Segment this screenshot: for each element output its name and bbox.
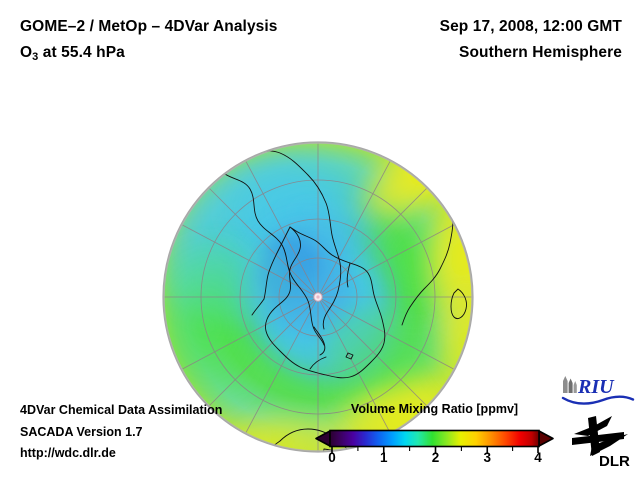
colorbar-graphic: 0 1 2 3 4 [312,420,557,466]
colorbar: Volume Mixing Ratio [ppmv] [312,402,557,466]
riu-wordmark: RIU [577,376,615,398]
species-pressure: at 55.4 hPa [38,44,125,61]
colorbar-tick-0: 0 [328,450,336,465]
dlr-wordmark: DLR [599,453,630,470]
region-label: Southern Hemisphere [342,40,622,66]
colorbar-tick-labels: 0 1 2 3 4 [312,450,557,468]
dlr-logo: DLR [566,412,634,470]
riu-logo-svg: RIU [559,374,635,406]
colorbar-tick-3: 3 [483,450,491,465]
riu-logo: RIU [559,374,635,406]
header-left: GOME–2 / MetOp – 4DVar Analysis O3 at 55… [20,14,390,70]
dlr-logo-svg: DLR [566,412,634,470]
colorbar-tick-1: 1 [380,450,388,465]
colorbar-cap-low [316,431,330,446]
credit-line-2: SACADA Version 1.7 [20,422,320,444]
species-symbol: O [20,44,32,61]
species-label: O3 at 55.4 hPa [20,40,390,70]
south-pole-marker [314,293,322,301]
colorbar-ramp [330,431,539,447]
colorbar-tick-2: 2 [432,450,440,465]
timestamp: Sep 17, 2008, 12:00 GMT [342,14,622,40]
credit-line-1: 4DVar Chemical Data Assimilation [20,400,320,422]
riu-tower-icon [563,376,577,393]
colorbar-title: Volume Mixing Ratio [ppmv] [312,402,557,416]
page-title: GOME–2 / MetOp – 4DVar Analysis [20,14,390,40]
footer-credits: 4DVar Chemical Data Assimilation SACADA … [20,400,320,465]
colorbar-tick-4: 4 [534,450,542,465]
header-right: Sep 17, 2008, 12:00 GMT Southern Hemisph… [342,14,622,66]
credit-url[interactable]: http://wdc.dlr.de [20,443,320,465]
colorbar-cap-high [539,431,553,446]
dlr-mark-icon [572,416,628,456]
